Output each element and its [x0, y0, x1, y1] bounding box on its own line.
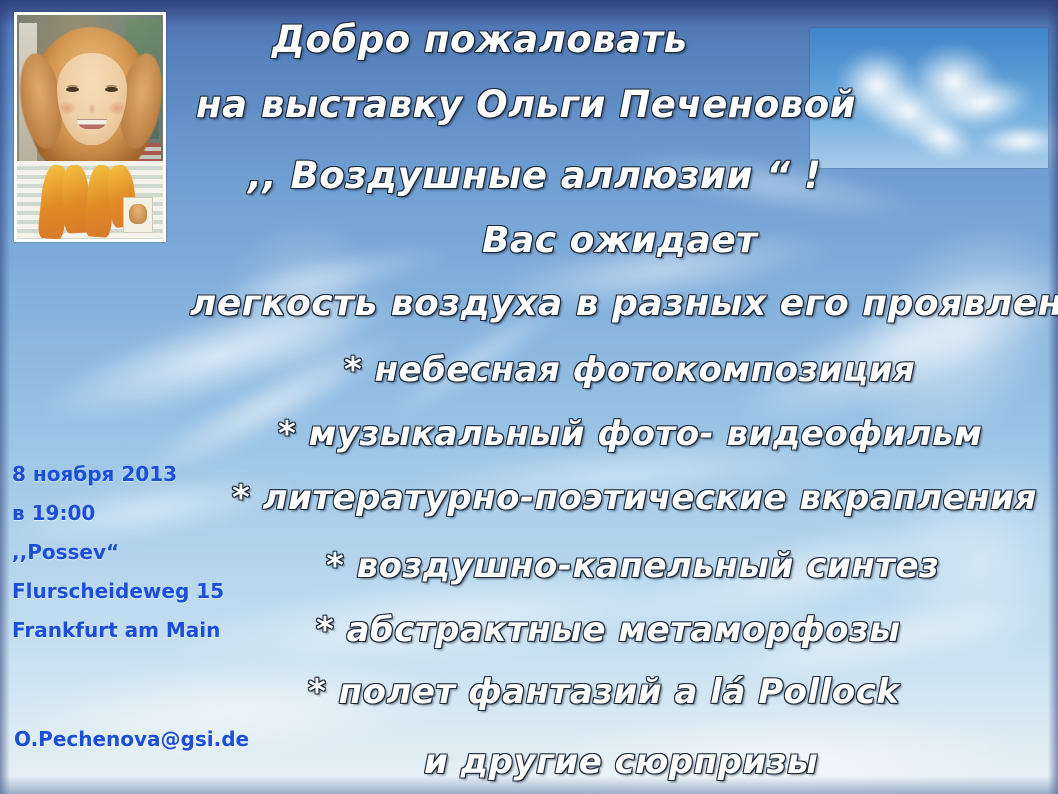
portrait-eye-right [105, 87, 118, 92]
headline-awaits: Вас ожидает [482, 220, 758, 261]
headline-lightness: легкость воздуха в разных его проявления… [190, 283, 1058, 324]
event-city: Frankfurt am Main [12, 611, 302, 650]
event-details-block: 8 ноября 2013 в 19:00 ,,Possev“ Flursche… [12, 455, 302, 650]
bullet-item: * небесная фотокомпозиция [344, 350, 915, 390]
portrait-cheek-right [107, 101, 127, 115]
bullet-item: * абстрактные метаморфозы [316, 610, 900, 650]
portrait-cheek-left [57, 101, 77, 115]
poster-canvas: Добро пожаловать на выставку Ольги Печен… [0, 0, 1058, 794]
portrait-photo [14, 12, 166, 242]
cloud-lobe [978, 124, 1048, 158]
event-street: Flurscheideweg 15 [12, 572, 302, 611]
portrait-badge [123, 197, 153, 233]
bullet-item: * литературно-поэтические вкрапления [232, 478, 1037, 518]
event-time: в 19:00 [12, 494, 302, 533]
bullet-item: и другие сюрпризы [424, 742, 818, 782]
bullet-item: * музыкальный фото- видеофильм [278, 414, 982, 454]
portrait-eye-left [66, 87, 79, 92]
portrait-mouth [77, 119, 107, 129]
bullet-item: * воздушно-капельный синтез [326, 546, 939, 586]
bullet-item: * полет фантазий a lá Pollock [308, 672, 899, 712]
event-venue: ,,Possev“ [12, 533, 302, 572]
headline-exhibition: на выставку Ольги Печеновой [196, 83, 856, 126]
headline-welcome: Добро пожаловать [272, 18, 688, 61]
event-date: 8 ноября 2013 [12, 455, 302, 494]
headline-title: ,, Воздушные аллюзии “ ! [248, 154, 821, 197]
portrait-nose [88, 103, 96, 115]
contact-email[interactable]: O.Pechenova@gsi.de [14, 727, 249, 751]
